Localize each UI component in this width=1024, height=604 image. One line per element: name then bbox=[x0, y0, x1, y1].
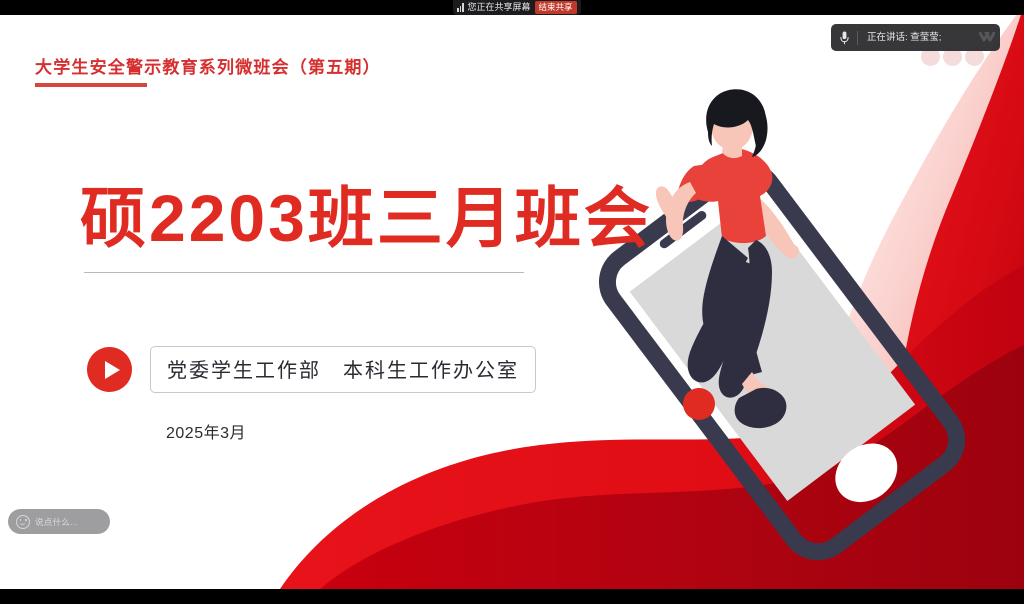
double-chevron-icon[interactable] bbox=[974, 32, 1000, 43]
active-speaker-widget[interactable]: 正在讲话: 查莹莹; bbox=[831, 24, 1000, 51]
smiley-icon[interactable] bbox=[16, 515, 30, 529]
stop-sharing-button[interactable]: 结束共享 bbox=[535, 1, 577, 15]
play-button-icon[interactable] bbox=[87, 347, 132, 392]
chat-input-placeholder: 说点什么... bbox=[35, 516, 78, 528]
active-speaker-label: 正在讲话: 查莹莹; bbox=[858, 24, 974, 51]
screen-share-view: 大学生安全警示教育系列微班会（第五期） 硕2203班三月班会 党委学生工作部 本… bbox=[0, 0, 1024, 604]
eyebrow-underline bbox=[35, 83, 147, 87]
slide-date: 2025年3月 bbox=[166, 419, 246, 443]
screen-share-status-bar: 您正在共享屏幕 结束共享 bbox=[453, 0, 581, 15]
slide-eyebrow-title: 大学生安全警示教育系列微班会（第五期） bbox=[35, 53, 381, 78]
slide-background-art bbox=[0, 15, 1024, 589]
slide-main-title: 硕2203班三月班会 bbox=[80, 185, 653, 251]
presentation-slide: 大学生安全警示教育系列微班会（第五期） 硕2203班三月班会 党委学生工作部 本… bbox=[0, 15, 1024, 589]
chat-input-pill[interactable]: 说点什么... bbox=[8, 509, 110, 534]
title-divider bbox=[84, 272, 524, 273]
signal-bars-icon bbox=[457, 3, 464, 12]
organization-row: 党委学生工作部 本科生工作办公室 bbox=[87, 346, 536, 393]
share-status-text: 您正在共享屏幕 bbox=[468, 0, 531, 15]
microphone-icon[interactable] bbox=[831, 31, 857, 45]
organization-label: 党委学生工作部 本科生工作办公室 bbox=[150, 346, 536, 393]
